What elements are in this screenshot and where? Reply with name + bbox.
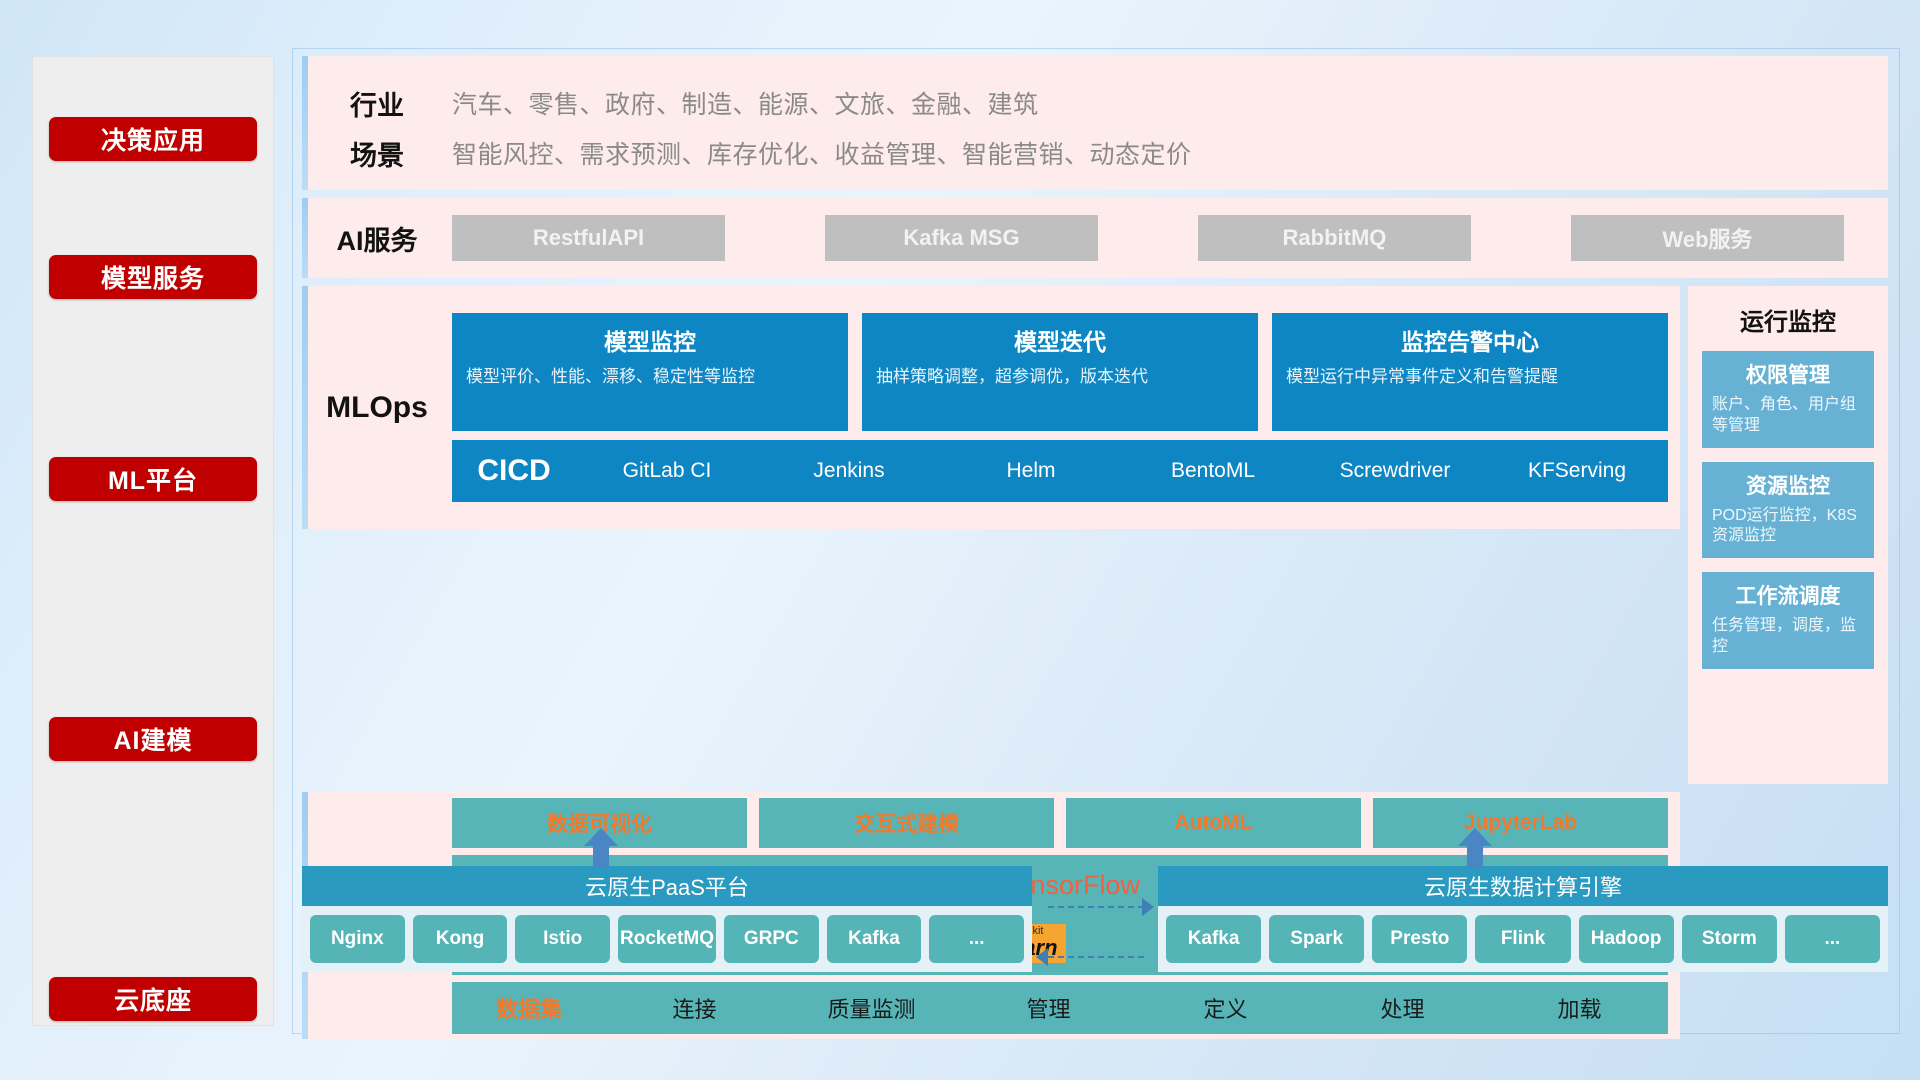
paas-title: 云原生PaaS平台 xyxy=(302,866,1032,906)
layer-rail: 决策应用 模型服务 ML平台 AI建模 云底座 xyxy=(32,56,274,1026)
paas-chip-list: Nginx Kong Istio RocketMQ GRPC Kafka ... xyxy=(302,906,1032,972)
scenario-label: 场景 xyxy=(302,134,452,173)
data-engine-chip-list: Kafka Spark Presto Flink Hadoop Storm ..… xyxy=(1158,906,1888,972)
mlops-card-title: 模型迭代 xyxy=(876,323,1244,357)
mlops-card-model-iteration[interactable]: 模型迭代 抽样策略调整，超参调优，版本迭代 xyxy=(862,313,1258,431)
cicd-item-list: GitLab CI Jenkins Helm BentoML Screwdriv… xyxy=(576,456,1668,486)
scenario-values: 智能风控、需求预测、库存优化、收益管理、智能营销、动态定价 xyxy=(452,135,1192,171)
paas-chip-istio[interactable]: Istio xyxy=(515,915,610,963)
mlops-band: MLOps 模型监控 模型评价、性能、漂移、稳定性等监控 模型迭代 抽样策略调整… xyxy=(302,286,1680,529)
connector-dash-right xyxy=(1048,906,1144,908)
band-accent xyxy=(302,56,308,190)
monitor-card-desc: POD运行监控，K8S资源监控 xyxy=(1712,506,1864,548)
mlops-card-model-monitoring[interactable]: 模型监控 模型评价、性能、漂移、稳定性等监控 xyxy=(452,313,848,431)
mlops-card-desc: 模型运行中异常事件定义和告警提醒 xyxy=(1286,366,1654,389)
paas-chip-kong[interactable]: Kong xyxy=(413,915,508,963)
rail-item-label: 模型服务 xyxy=(101,259,205,295)
scenario-row: 场景 智能风控、需求预测、库存优化、收益管理、智能营销、动态定价 xyxy=(302,128,1888,178)
paas-chip-grpc[interactable]: GRPC xyxy=(724,915,819,963)
mlops-card-list: 模型监控 模型评价、性能、漂移、稳定性等监控 模型迭代 抽样策略调整，超参调优，… xyxy=(452,313,1668,431)
data-engine-group: 云原生数据计算引擎 Kafka Spark Presto Flink Hadoo… xyxy=(1158,866,1888,1026)
monitor-card-permission[interactable]: 权限管理 账户、角色、用户组等管理 xyxy=(1702,351,1874,448)
rail-item-ml-platform[interactable]: ML平台 xyxy=(49,457,257,501)
ai-service-chip-web-service[interactable]: Web服务 xyxy=(1571,215,1844,261)
ai-service-label: AI服务 xyxy=(302,219,452,258)
rail-item-label: 决策应用 xyxy=(101,121,205,157)
ai-service-chip-rabbitmq[interactable]: RabbitMQ xyxy=(1198,215,1471,261)
cicd-item-jenkins[interactable]: Jenkins xyxy=(758,456,940,486)
paas-chip-nginx[interactable]: Nginx xyxy=(310,915,405,963)
cicd-item-helm[interactable]: Helm xyxy=(940,456,1122,486)
connector-arrow-left-icon xyxy=(1036,948,1048,966)
engine-chip-flink[interactable]: Flink xyxy=(1475,915,1570,963)
mlops-card-title: 监控告警中心 xyxy=(1286,323,1654,357)
rail-item-label: AI建模 xyxy=(113,721,192,757)
bidirectional-connector xyxy=(1034,884,1160,1004)
paas-chip-rocketmq[interactable]: RocketMQ xyxy=(618,915,716,963)
paas-group: 云原生PaaS平台 Nginx Kong Istio RocketMQ GRPC… xyxy=(302,866,1032,1026)
rail-item-ai-modeling[interactable]: AI建模 xyxy=(49,717,257,761)
industry-values: 汽车、零售、政府、制造、能源、文旅、金融、建筑 xyxy=(452,85,1039,121)
band-accent xyxy=(302,286,308,529)
rail-item-model-service[interactable]: 模型服务 xyxy=(49,255,257,299)
mlops-card-desc: 抽样策略调整，超参调优，版本迭代 xyxy=(876,366,1244,389)
mlops-label: MLOps xyxy=(302,391,452,425)
monitor-card-desc: 账户、角色、用户组等管理 xyxy=(1712,395,1864,437)
rail-item-decision-app[interactable]: 决策应用 xyxy=(49,117,257,161)
monitor-card-resource[interactable]: 资源监控 POD运行监控，K8S资源监控 xyxy=(1702,462,1874,559)
monitor-card-title: 工作流调度 xyxy=(1712,580,1864,610)
cicd-item-gitlab-ci[interactable]: GitLab CI xyxy=(576,456,758,486)
cicd-item-bentoml[interactable]: BentoML xyxy=(1122,456,1304,486)
connector-arrow-right-icon xyxy=(1142,898,1154,916)
runtime-monitoring-title: 运行监控 xyxy=(1702,302,1874,337)
arrow-up-icon xyxy=(580,826,622,868)
ml-lab-tab-jupyterlab[interactable]: JupyterLab xyxy=(1373,798,1668,848)
engine-chip-hadoop[interactable]: Hadoop xyxy=(1579,915,1674,963)
band-accent xyxy=(302,198,308,278)
monitor-card-desc: 任务管理，调度，监控 xyxy=(1712,616,1864,658)
ai-service-band: AI服务 RestfulAPI Kafka MSG RabbitMQ Web服务 xyxy=(302,198,1888,278)
cicd-item-screwdriver[interactable]: Screwdriver xyxy=(1304,456,1486,486)
mlops-card-alert-center[interactable]: 监控告警中心 模型运行中异常事件定义和告警提醒 xyxy=(1272,313,1668,431)
industry-row: 行业 汽车、零售、政府、制造、能源、文旅、金融、建筑 xyxy=(302,78,1888,128)
monitor-card-workflow[interactable]: 工作流调度 任务管理，调度，监控 xyxy=(1702,572,1874,669)
engine-chip-spark[interactable]: Spark xyxy=(1269,915,1364,963)
connector-dash-left xyxy=(1048,956,1144,958)
ml-lab-tab-automl[interactable]: AutoML xyxy=(1066,798,1361,848)
ai-service-chip-kafka-msg[interactable]: Kafka MSG xyxy=(825,215,1098,261)
industry-label: 行业 xyxy=(302,84,452,123)
ai-service-chip-restfulapi[interactable]: RestfulAPI xyxy=(452,215,725,261)
ml-lab-tab-interactive-modeling[interactable]: 交互式建模 xyxy=(759,798,1054,848)
paas-chip-more[interactable]: ... xyxy=(929,915,1024,963)
engine-chip-kafka[interactable]: Kafka xyxy=(1166,915,1261,963)
paas-chip-kafka[interactable]: Kafka xyxy=(827,915,922,963)
monitor-card-title: 资源监控 xyxy=(1712,470,1864,500)
industry-scenario-band: 行业 汽车、零售、政府、制造、能源、文旅、金融、建筑 场景 智能风控、需求预测、… xyxy=(302,56,1888,190)
cicd-item-kfserving[interactable]: KFServing xyxy=(1486,456,1668,486)
mlops-card-desc: 模型评价、性能、漂移、稳定性等监控 xyxy=(466,366,834,389)
runtime-monitoring-panel: 运行监控 权限管理 账户、角色、用户组等管理 资源监控 POD运行监控，K8S资… xyxy=(1688,286,1888,784)
mlops-card-title: 模型监控 xyxy=(466,323,834,357)
engine-chip-more[interactable]: ... xyxy=(1785,915,1880,963)
cicd-label: CICD xyxy=(452,454,576,488)
rail-item-cloud-base[interactable]: 云底座 xyxy=(49,977,257,1021)
rail-item-label: 云底座 xyxy=(114,981,192,1017)
ai-service-chip-list: RestfulAPI Kafka MSG RabbitMQ Web服务 xyxy=(452,215,1888,261)
mlops-and-monitoring-row: MLOps 模型监控 模型评价、性能、漂移、稳定性等监控 模型迭代 抽样策略调整… xyxy=(302,286,1888,784)
data-engine-title: 云原生数据计算引擎 xyxy=(1158,866,1888,906)
mlops-body: 模型监控 模型评价、性能、漂移、稳定性等监控 模型迭代 抽样策略调整，超参调优，… xyxy=(452,313,1680,502)
engine-chip-storm[interactable]: Storm xyxy=(1682,915,1777,963)
cicd-strip: CICD GitLab CI Jenkins Helm BentoML Scre… xyxy=(452,440,1668,502)
arrow-up-icon xyxy=(1454,826,1496,868)
engine-chip-presto[interactable]: Presto xyxy=(1372,915,1467,963)
rail-item-label: ML平台 xyxy=(108,461,198,497)
monitor-card-title: 权限管理 xyxy=(1712,359,1864,389)
